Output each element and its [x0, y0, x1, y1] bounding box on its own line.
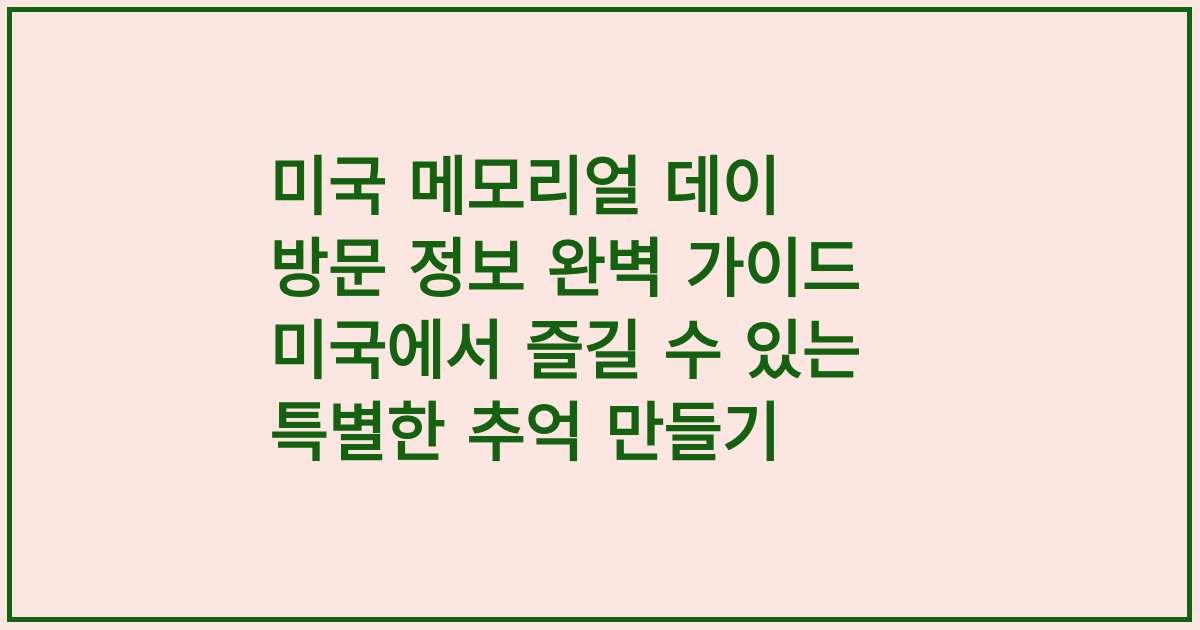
headline-line-1: 미국 메모리얼 데이	[270, 147, 1170, 229]
headline-block: 미국 메모리얼 데이 방문 정보 완벽 가이드 미국에서 즐길 수 있는 특별한…	[270, 147, 1170, 475]
promo-card: 미국 메모리얼 데이 방문 정보 완벽 가이드 미국에서 즐길 수 있는 특별한…	[0, 0, 1200, 630]
card-border-frame: 미국 메모리얼 데이 방문 정보 완벽 가이드 미국에서 즐길 수 있는 특별한…	[7, 7, 1192, 622]
headline-line-2: 방문 정보 완벽 가이드	[270, 229, 1170, 311]
headline-line-3: 미국에서 즐길 수 있는	[270, 311, 1170, 393]
headline-line-4: 특별한 추억 만들기	[270, 393, 1170, 475]
